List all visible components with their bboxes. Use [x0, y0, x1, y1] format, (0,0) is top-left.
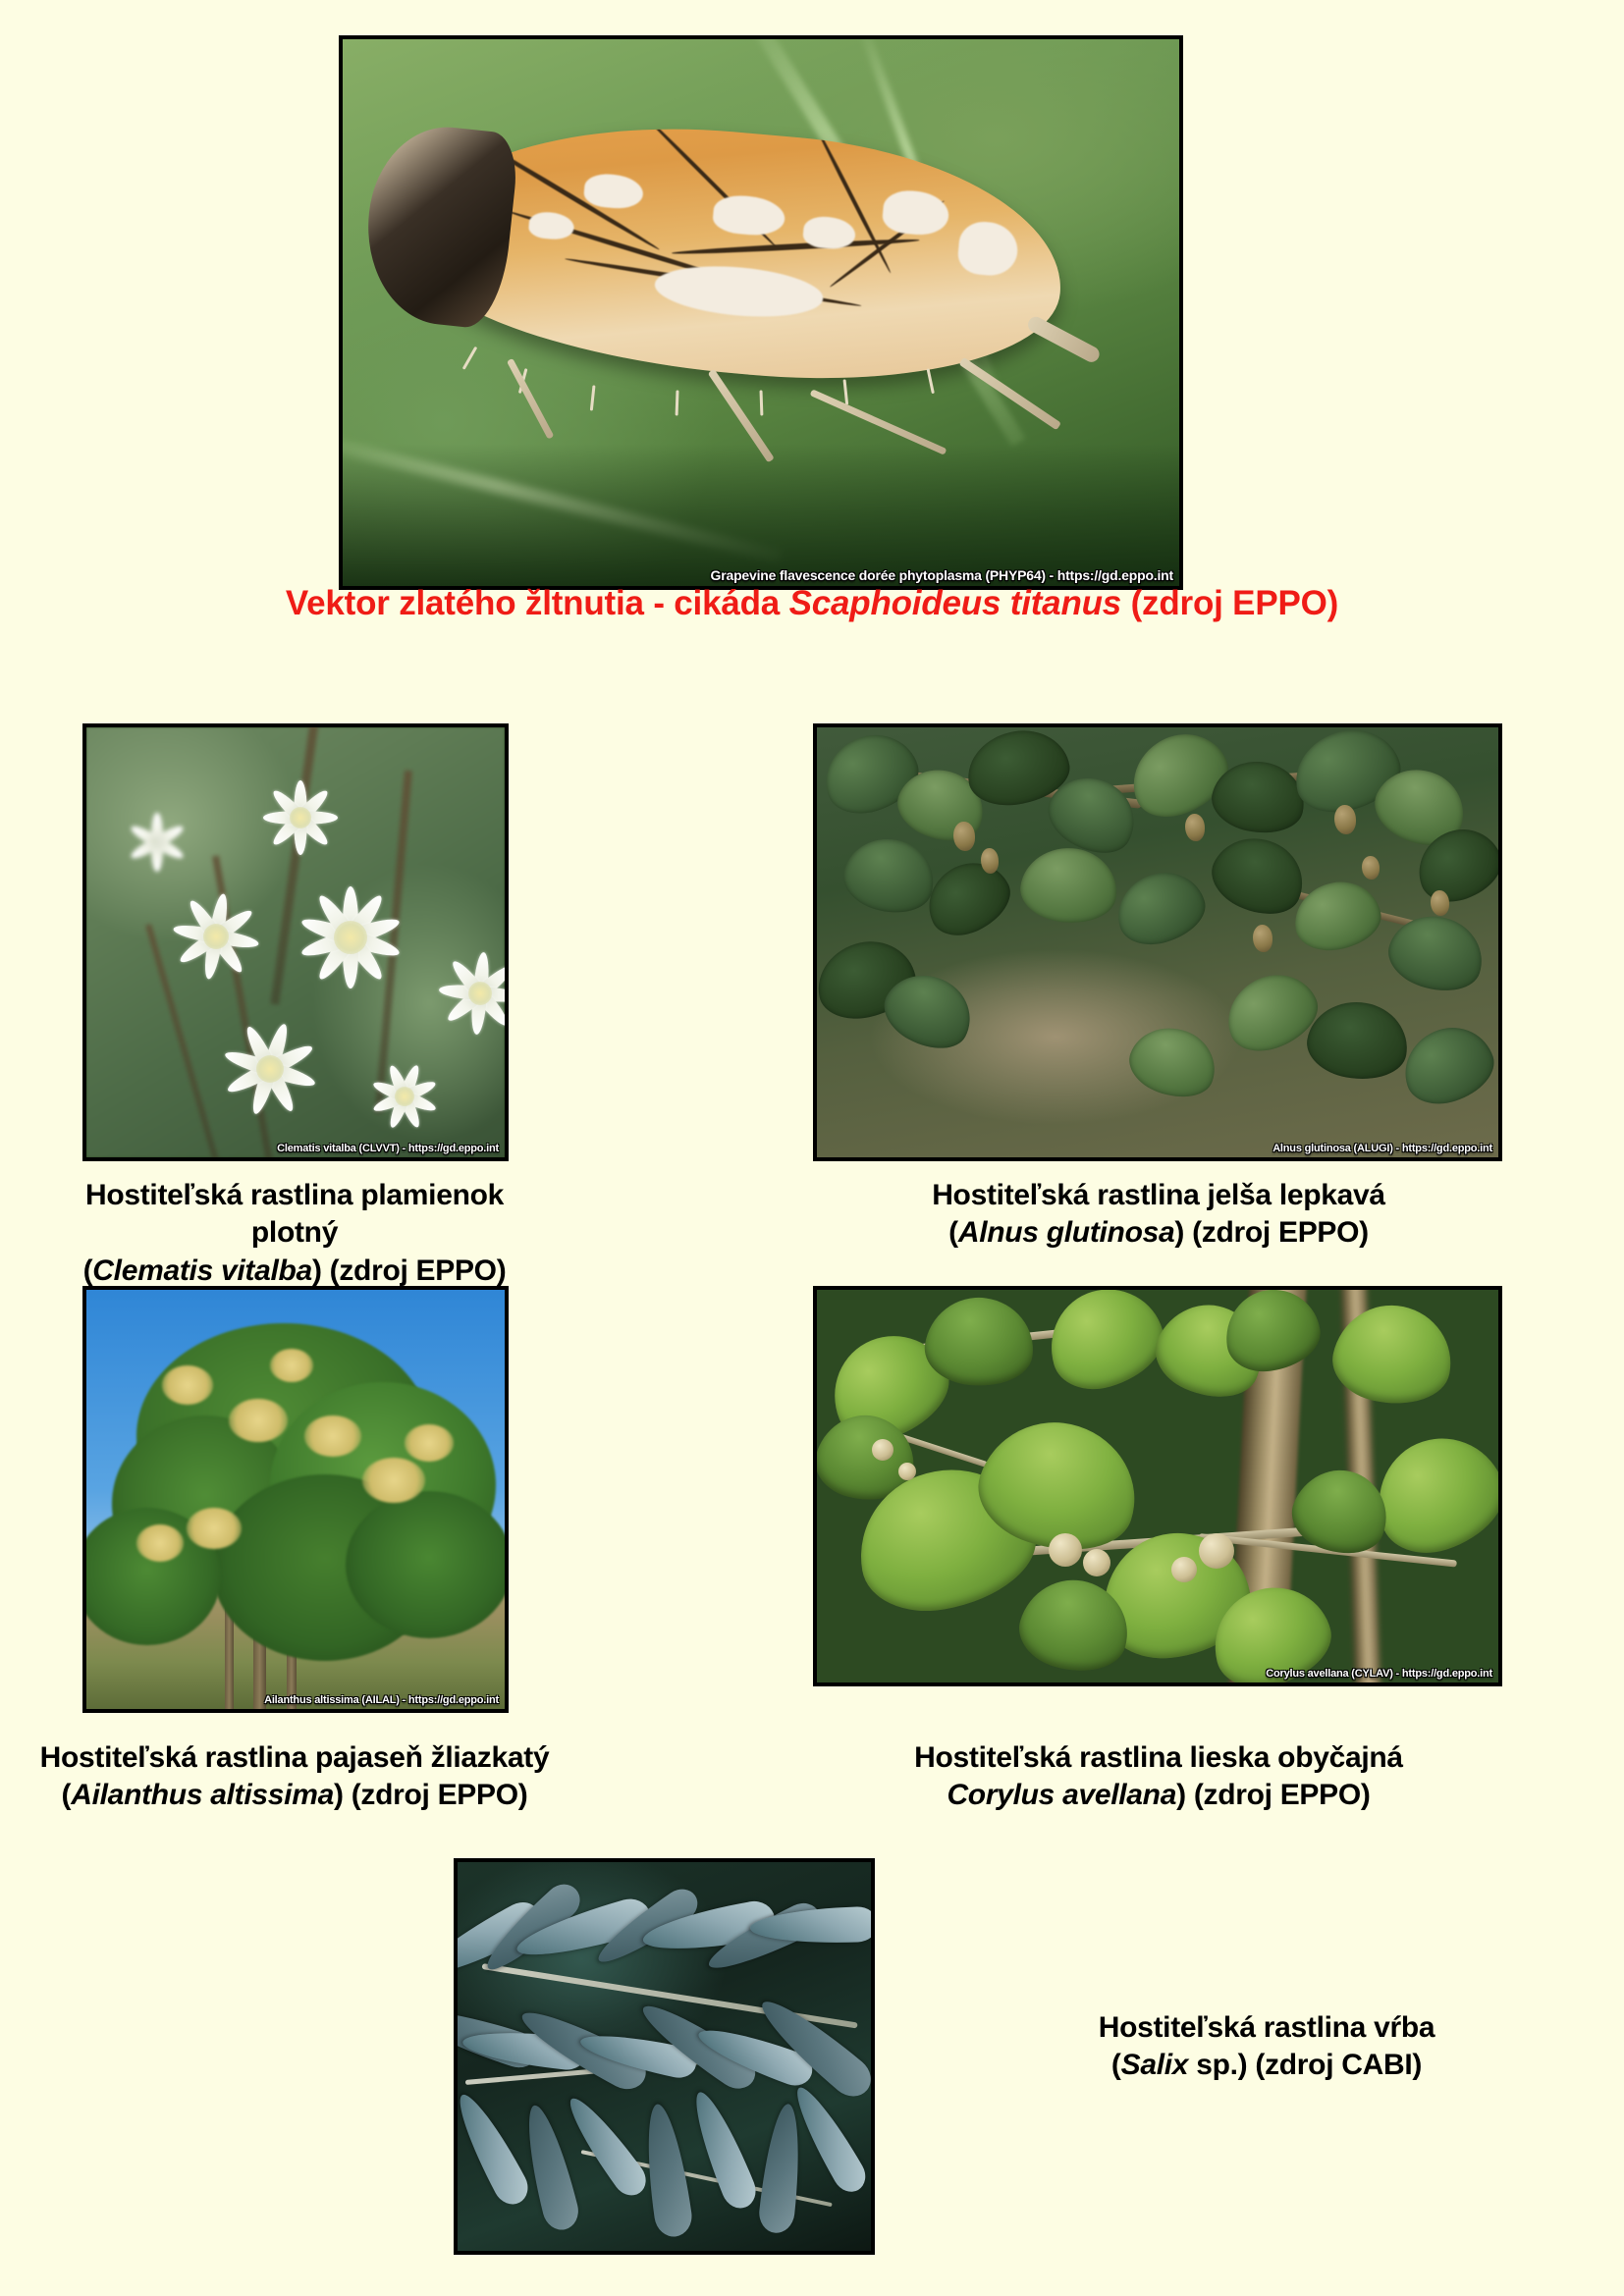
- tree-flower-cluster: [162, 1365, 213, 1405]
- flower-center: [290, 807, 311, 828]
- caption-line-1: Hostiteľská rastlina pajaseň žliazkatý: [35, 1739, 554, 1777]
- alder-cone: [1334, 805, 1356, 834]
- caption-scientific-name: Alnus glutinosa: [958, 1216, 1175, 1249]
- eppo-watermark: Corylus avellana (CYLAV) - https://gd.ep…: [1266, 1668, 1492, 1680]
- wing-spot: [583, 172, 645, 210]
- caption-scientific-name: Corylus avellana: [947, 1779, 1176, 1811]
- eppo-watermark: Clematis vitalba (CLVVT) - https://gd.ep…: [277, 1143, 499, 1154]
- photo-canvas-ailanthus: Ailanthus altissima (AILAL) - https://gd…: [86, 1290, 505, 1709]
- figure-salix-sp: [454, 1858, 875, 2255]
- wing-spot: [957, 219, 1020, 277]
- caption-source: ) (zdroj EPPO): [334, 1779, 527, 1811]
- clematis-flower: [362, 1054, 447, 1139]
- caption-scientific-name: Salix: [1121, 2049, 1189, 2081]
- tree-flower-cluster: [187, 1508, 242, 1549]
- caption-clematis-vitalba: Hostiteľská rastlina plamienok plotný (C…: [39, 1177, 550, 1290]
- caption-alnus-glutinosa: Hostiteľská rastlina jelša lepkavá (Alnu…: [805, 1177, 1512, 1253]
- wing-spot: [527, 210, 575, 240]
- caption-paren-open: (: [948, 1216, 958, 1249]
- caption-line-2: (Salix sp.) (zdroj CABI): [992, 2047, 1542, 2084]
- caption-line-1: Hostiteľská rastlina lieska obyčajná: [805, 1739, 1512, 1777]
- caption-line-1: Hostiteľská rastlina vŕba: [992, 2009, 1542, 2047]
- tree-flower-cluster: [405, 1424, 454, 1462]
- alder-cone: [1185, 814, 1205, 841]
- title-scientific-name: Scaphoideus titanus: [789, 584, 1121, 622]
- hazel-nut: [1049, 1533, 1082, 1567]
- clematis-flower: [120, 805, 194, 880]
- caption-source: ) (zdroj EPPO): [1174, 1216, 1368, 1249]
- caption-line-1: Hostiteľská rastlina jelša lepkavá: [805, 1177, 1512, 1214]
- caption-line-2: (Ailanthus altissima) (zdroj EPPO): [35, 1777, 554, 1814]
- photo-canvas-corylus: Corylus avellana (CYLAV) - https://gd.ep…: [817, 1290, 1498, 1682]
- caption-paren-open: (: [62, 1779, 72, 1811]
- eppo-watermark: Ailanthus altissima (AILAL) - https://gd…: [264, 1694, 499, 1706]
- hazel-nut: [872, 1439, 893, 1461]
- caption-paren-open: (: [83, 1255, 93, 1287]
- caption-source: ) (zdroj EPPO): [312, 1255, 506, 1287]
- clematis-flower: [212, 1011, 328, 1127]
- clematis-flower: [162, 882, 270, 990]
- document-page: Grapevine flavescence dorée phytoplasma …: [0, 0, 1624, 2296]
- caption-scientific-name: Ailanthus altissima: [71, 1779, 334, 1811]
- page-title: Vektor zlatého žltnutia - cikáda Scaphoi…: [0, 583, 1624, 624]
- eppo-watermark: Grapevine flavescence dorée phytoplasma …: [711, 567, 1173, 583]
- figure-corylus-avellana: Corylus avellana (CYLAV) - https://gd.ep…: [813, 1286, 1502, 1686]
- caption-ailanthus-altissima: Hostiteľská rastlina pajaseň žliazkatý (…: [35, 1739, 554, 1815]
- figure-clematis-vitalba: Clematis vitalba (CLVVT) - https://gd.ep…: [82, 723, 509, 1161]
- figure-alnus-glutinosa: Alnus glutinosa (ALUGI) - https://gd.epp…: [813, 723, 1502, 1161]
- alder-cone: [981, 848, 999, 874]
- wing-spot: [712, 192, 786, 237]
- flower-center: [334, 921, 367, 954]
- hazel-nut: [1199, 1533, 1234, 1569]
- tree-flower-cluster: [136, 1524, 184, 1562]
- flower-center: [468, 982, 492, 1005]
- caption-line-2: (Alnus glutinosa) (zdroj EPPO): [805, 1214, 1512, 1252]
- flower-center: [256, 1055, 284, 1083]
- caption-line-2: Corylus avellana) (zdroj EPPO): [805, 1777, 1512, 1814]
- figure-ailanthus-altissima: Ailanthus altissima (AILAL) - https://gd…: [82, 1286, 509, 1713]
- alder-cone: [953, 822, 975, 851]
- wing-spot: [652, 260, 825, 323]
- title-prefix: Vektor zlatého žltnutia - cikáda: [286, 584, 789, 622]
- tree-flower-cluster: [270, 1349, 313, 1382]
- leafhopper-seta: [675, 391, 678, 416]
- flower-center: [395, 1087, 414, 1106]
- tree-flower-cluster: [362, 1458, 425, 1503]
- alder-cone: [1362, 856, 1380, 880]
- wing-spot: [882, 188, 950, 238]
- leaf-shadow: [343, 444, 1179, 586]
- alder-cone: [1431, 890, 1449, 916]
- caption-source: sp.) (zdroj CABI): [1188, 2049, 1422, 2081]
- photo-canvas-alnus: Alnus glutinosa (ALUGI) - https://gd.epp…: [817, 727, 1498, 1157]
- tree-crown: [346, 1491, 505, 1638]
- caption-source: ) (zdroj EPPO): [1176, 1779, 1370, 1811]
- tree-flower-cluster: [229, 1399, 288, 1442]
- caption-corylus-avellana: Hostiteľská rastlina lieska obyčajná Cor…: [805, 1739, 1512, 1815]
- photo-canvas-salix: [458, 1862, 871, 2251]
- photo-canvas-clematis: Clematis vitalba (CLVVT) - https://gd.ep…: [86, 727, 505, 1157]
- caption-scientific-name: Clematis vitalba: [92, 1255, 312, 1287]
- caption-salix-sp: Hostiteľská rastlina vŕba (Salix sp.) (z…: [992, 2009, 1542, 2085]
- title-suffix: (zdroj EPPO): [1121, 584, 1338, 622]
- clematis-flower: [253, 771, 348, 865]
- clematis-flower: [287, 874, 414, 1001]
- caption-line-1: Hostiteľská rastlina plamienok plotný: [39, 1177, 550, 1253]
- tree-flower-cluster: [304, 1415, 361, 1457]
- hazel-nut: [1171, 1557, 1197, 1582]
- photo-canvas-leafhopper: Grapevine flavescence dorée phytoplasma …: [343, 39, 1179, 586]
- eppo-watermark: Alnus glutinosa (ALUGI) - https://gd.epp…: [1272, 1143, 1492, 1154]
- hazel-nut: [1083, 1549, 1110, 1576]
- caption-paren-open: (: [1111, 2049, 1121, 2081]
- flower-center: [203, 924, 229, 949]
- alder-cone: [1253, 925, 1272, 952]
- caption-line-2: (Clematis vitalba) (zdroj EPPO): [39, 1253, 550, 1290]
- figure-scaphoideus-titanus: Grapevine flavescence dorée phytoplasma …: [339, 35, 1183, 590]
